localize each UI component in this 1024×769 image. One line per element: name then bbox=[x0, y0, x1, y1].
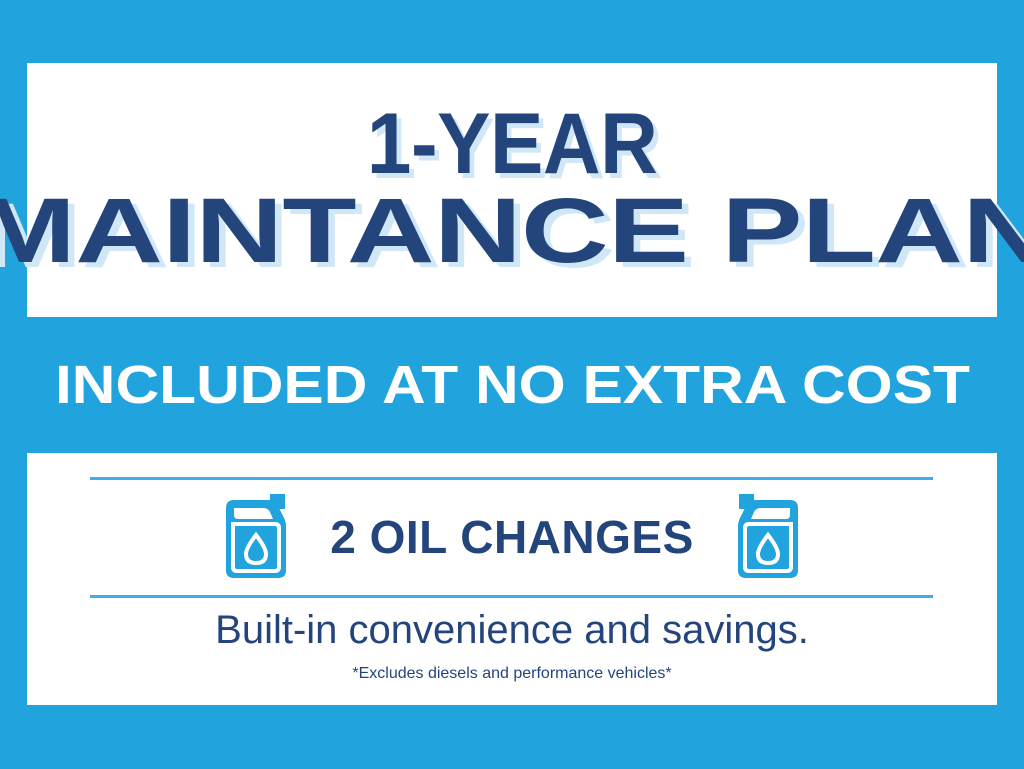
details-panel: 2 OIL CHANGES Built-in convenience and s… bbox=[27, 453, 997, 705]
oil-can-icon-left bbox=[218, 494, 290, 580]
tagline-text: Built-in convenience and savings. bbox=[27, 608, 997, 653]
headline-line-2: MAINTANCE PLAN bbox=[0, 189, 1024, 275]
oil-can-icon-right bbox=[734, 494, 806, 580]
divider-top bbox=[90, 477, 933, 480]
feature-row: 2 OIL CHANGES bbox=[27, 483, 997, 591]
divider-bottom bbox=[90, 595, 933, 598]
feature-label: 2 OIL CHANGES bbox=[330, 510, 694, 564]
headline-panel: 1-YEAR MAINTANCE PLAN bbox=[27, 63, 997, 317]
disclaimer-text: *Excludes diesels and performance vehicl… bbox=[27, 665, 997, 683]
headline-line-1: 1-YEAR bbox=[367, 105, 658, 185]
promo-poster: 1-YEAR MAINTANCE PLAN INCLUDED AT NO EXT… bbox=[0, 0, 1024, 769]
subheading-text: INCLUDED AT NO EXTRA COST bbox=[54, 354, 969, 416]
subheading-band: INCLUDED AT NO EXTRA COST bbox=[0, 330, 1024, 440]
